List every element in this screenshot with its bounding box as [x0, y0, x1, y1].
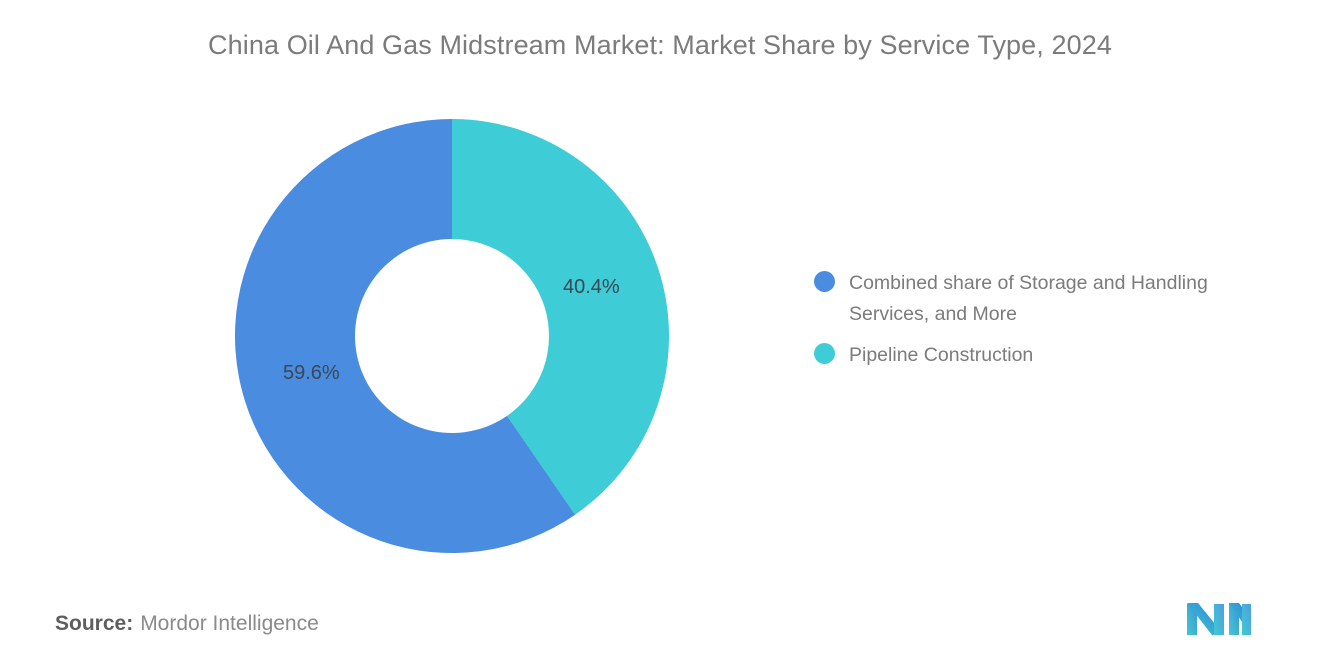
- legend-item-pipeline-construction[interactable]: Pipeline Construction: [814, 340, 1284, 371]
- donut-slices: [235, 119, 669, 553]
- chart-title: China Oil And Gas Midstream Market: Mark…: [0, 30, 1320, 61]
- legend-item-label: Pipeline Construction: [849, 340, 1033, 371]
- legend-dot-icon: [814, 343, 835, 364]
- legend-item-label: Combined share of Storage and Handling S…: [849, 268, 1269, 330]
- donut-chart: 59.6% 40.4%: [235, 119, 669, 553]
- donut-svg: [235, 119, 669, 553]
- legend-item-combined-storage-handling[interactable]: Combined share of Storage and Handling S…: [814, 268, 1284, 330]
- source-line: Source:Mordor Intelligence: [55, 612, 319, 636]
- slice-value-label-combined-storage-handling: 59.6%: [283, 362, 340, 385]
- source-label: Source:: [55, 612, 133, 635]
- chart-card: China Oil And Gas Midstream Market: Mark…: [0, 0, 1320, 665]
- chart-legend: Combined share of Storage and Handling S…: [814, 268, 1284, 381]
- mordor-intelligence-logo-icon: [1186, 598, 1252, 636]
- source-value: Mordor Intelligence: [140, 612, 319, 635]
- legend-dot-icon: [814, 271, 835, 292]
- slice-value-label-pipeline-construction: 40.4%: [563, 276, 620, 299]
